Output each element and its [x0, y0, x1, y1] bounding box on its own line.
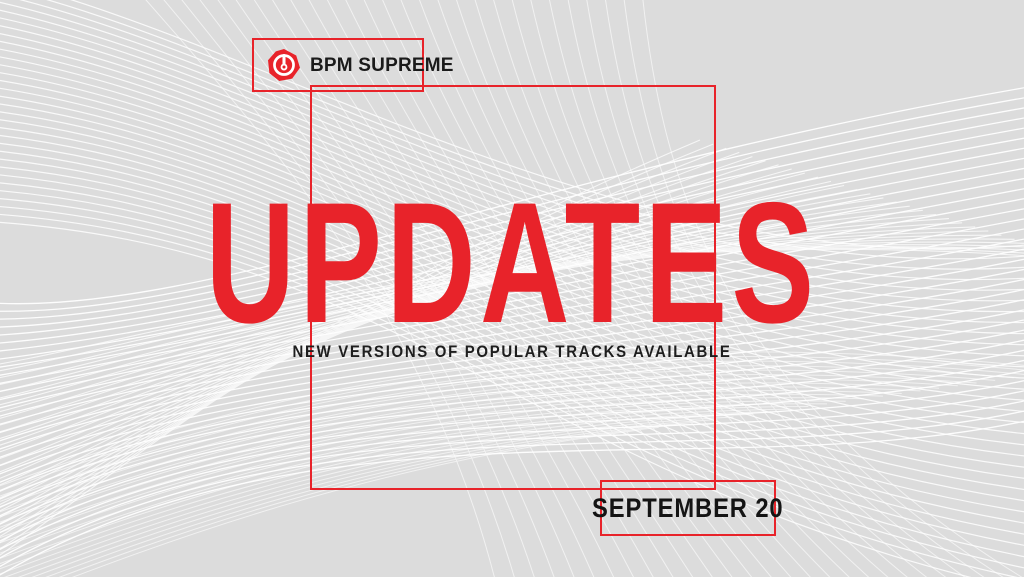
main-red-frame	[310, 85, 716, 490]
bpm-supreme-hexagon-logo-icon	[267, 48, 301, 82]
brand-logo-box: BPM SUPREME	[252, 38, 424, 92]
promo-banner: BPM SUPREME UPDATES NEW VERSIONS OF POPU…	[0, 0, 1024, 577]
date-badge: SEPTEMBER 20	[600, 480, 776, 536]
date-badge-label: SEPTEMBER 20	[592, 495, 783, 522]
brand-wordmark: BPM SUPREME	[310, 56, 454, 75]
